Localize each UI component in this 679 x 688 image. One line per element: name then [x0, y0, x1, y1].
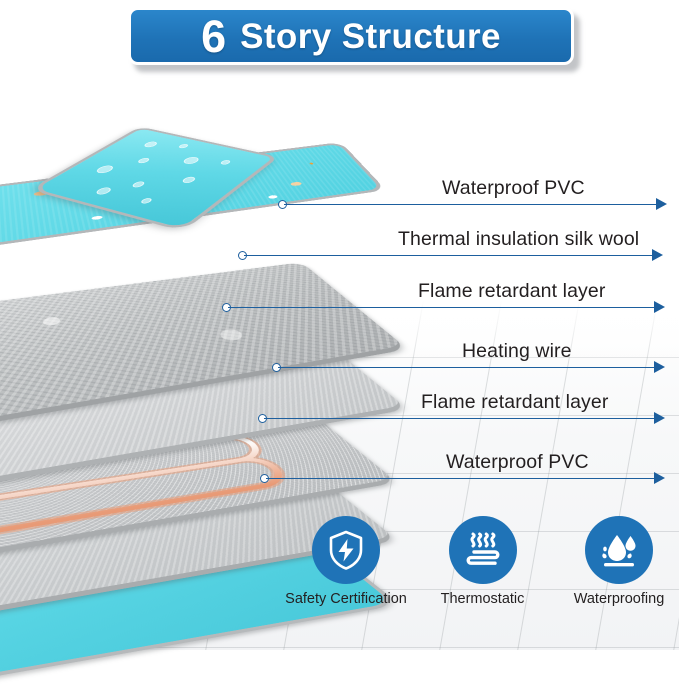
badge-label: Waterproofing — [574, 591, 665, 607]
title-number: 6 — [201, 14, 226, 59]
callout-arrow-icon — [654, 412, 665, 424]
callout-label: Thermal insulation silk wool — [398, 228, 639, 251]
callout-arrow-icon — [654, 361, 665, 373]
exploded-layer-stack — [0, 110, 420, 530]
title-banner: 6 Story Structure — [128, 7, 574, 69]
title-banner-body: 6 Story Structure — [128, 7, 574, 65]
heat-waves-icon — [462, 529, 504, 571]
callout-label: Flame retardant layer — [421, 391, 608, 414]
callout-line — [266, 478, 656, 479]
badge-circle — [312, 516, 380, 584]
callout-arrow-icon — [654, 472, 665, 484]
badge-circle — [585, 516, 653, 584]
callout-arrow-icon — [652, 249, 663, 261]
callout-label: Waterproof PVC — [446, 451, 589, 474]
callout-line — [264, 418, 656, 419]
feature-safety-certification: Safety Certification — [286, 516, 406, 607]
callout-arrow-icon — [656, 198, 667, 210]
title-text: Story Structure — [240, 19, 501, 54]
water-drop-icon — [598, 529, 640, 571]
infographic-canvas: 6 Story Structure — [0, 0, 679, 650]
callout-line — [278, 367, 656, 368]
badge-circle — [449, 516, 517, 584]
badge-label: Thermostatic — [441, 591, 525, 607]
layer-1-waterproof-pvc-mat — [0, 138, 389, 253]
feature-badge-row: Safety Certification Thermostatic — [286, 516, 679, 636]
feature-thermostatic: Thermostatic — [423, 516, 543, 607]
callout-label: Waterproof PVC — [442, 177, 585, 200]
callout-arrow-icon — [654, 301, 665, 313]
callout-label: Flame retardant layer — [418, 280, 605, 303]
callout-line — [284, 204, 658, 205]
shield-bolt-icon — [325, 529, 367, 571]
feature-waterproofing: Waterproofing — [559, 516, 679, 607]
callout-line — [244, 255, 654, 256]
callout-label: Heating wire — [462, 340, 572, 363]
callout-line — [228, 307, 656, 308]
badge-label: Safety Certification — [285, 591, 407, 607]
